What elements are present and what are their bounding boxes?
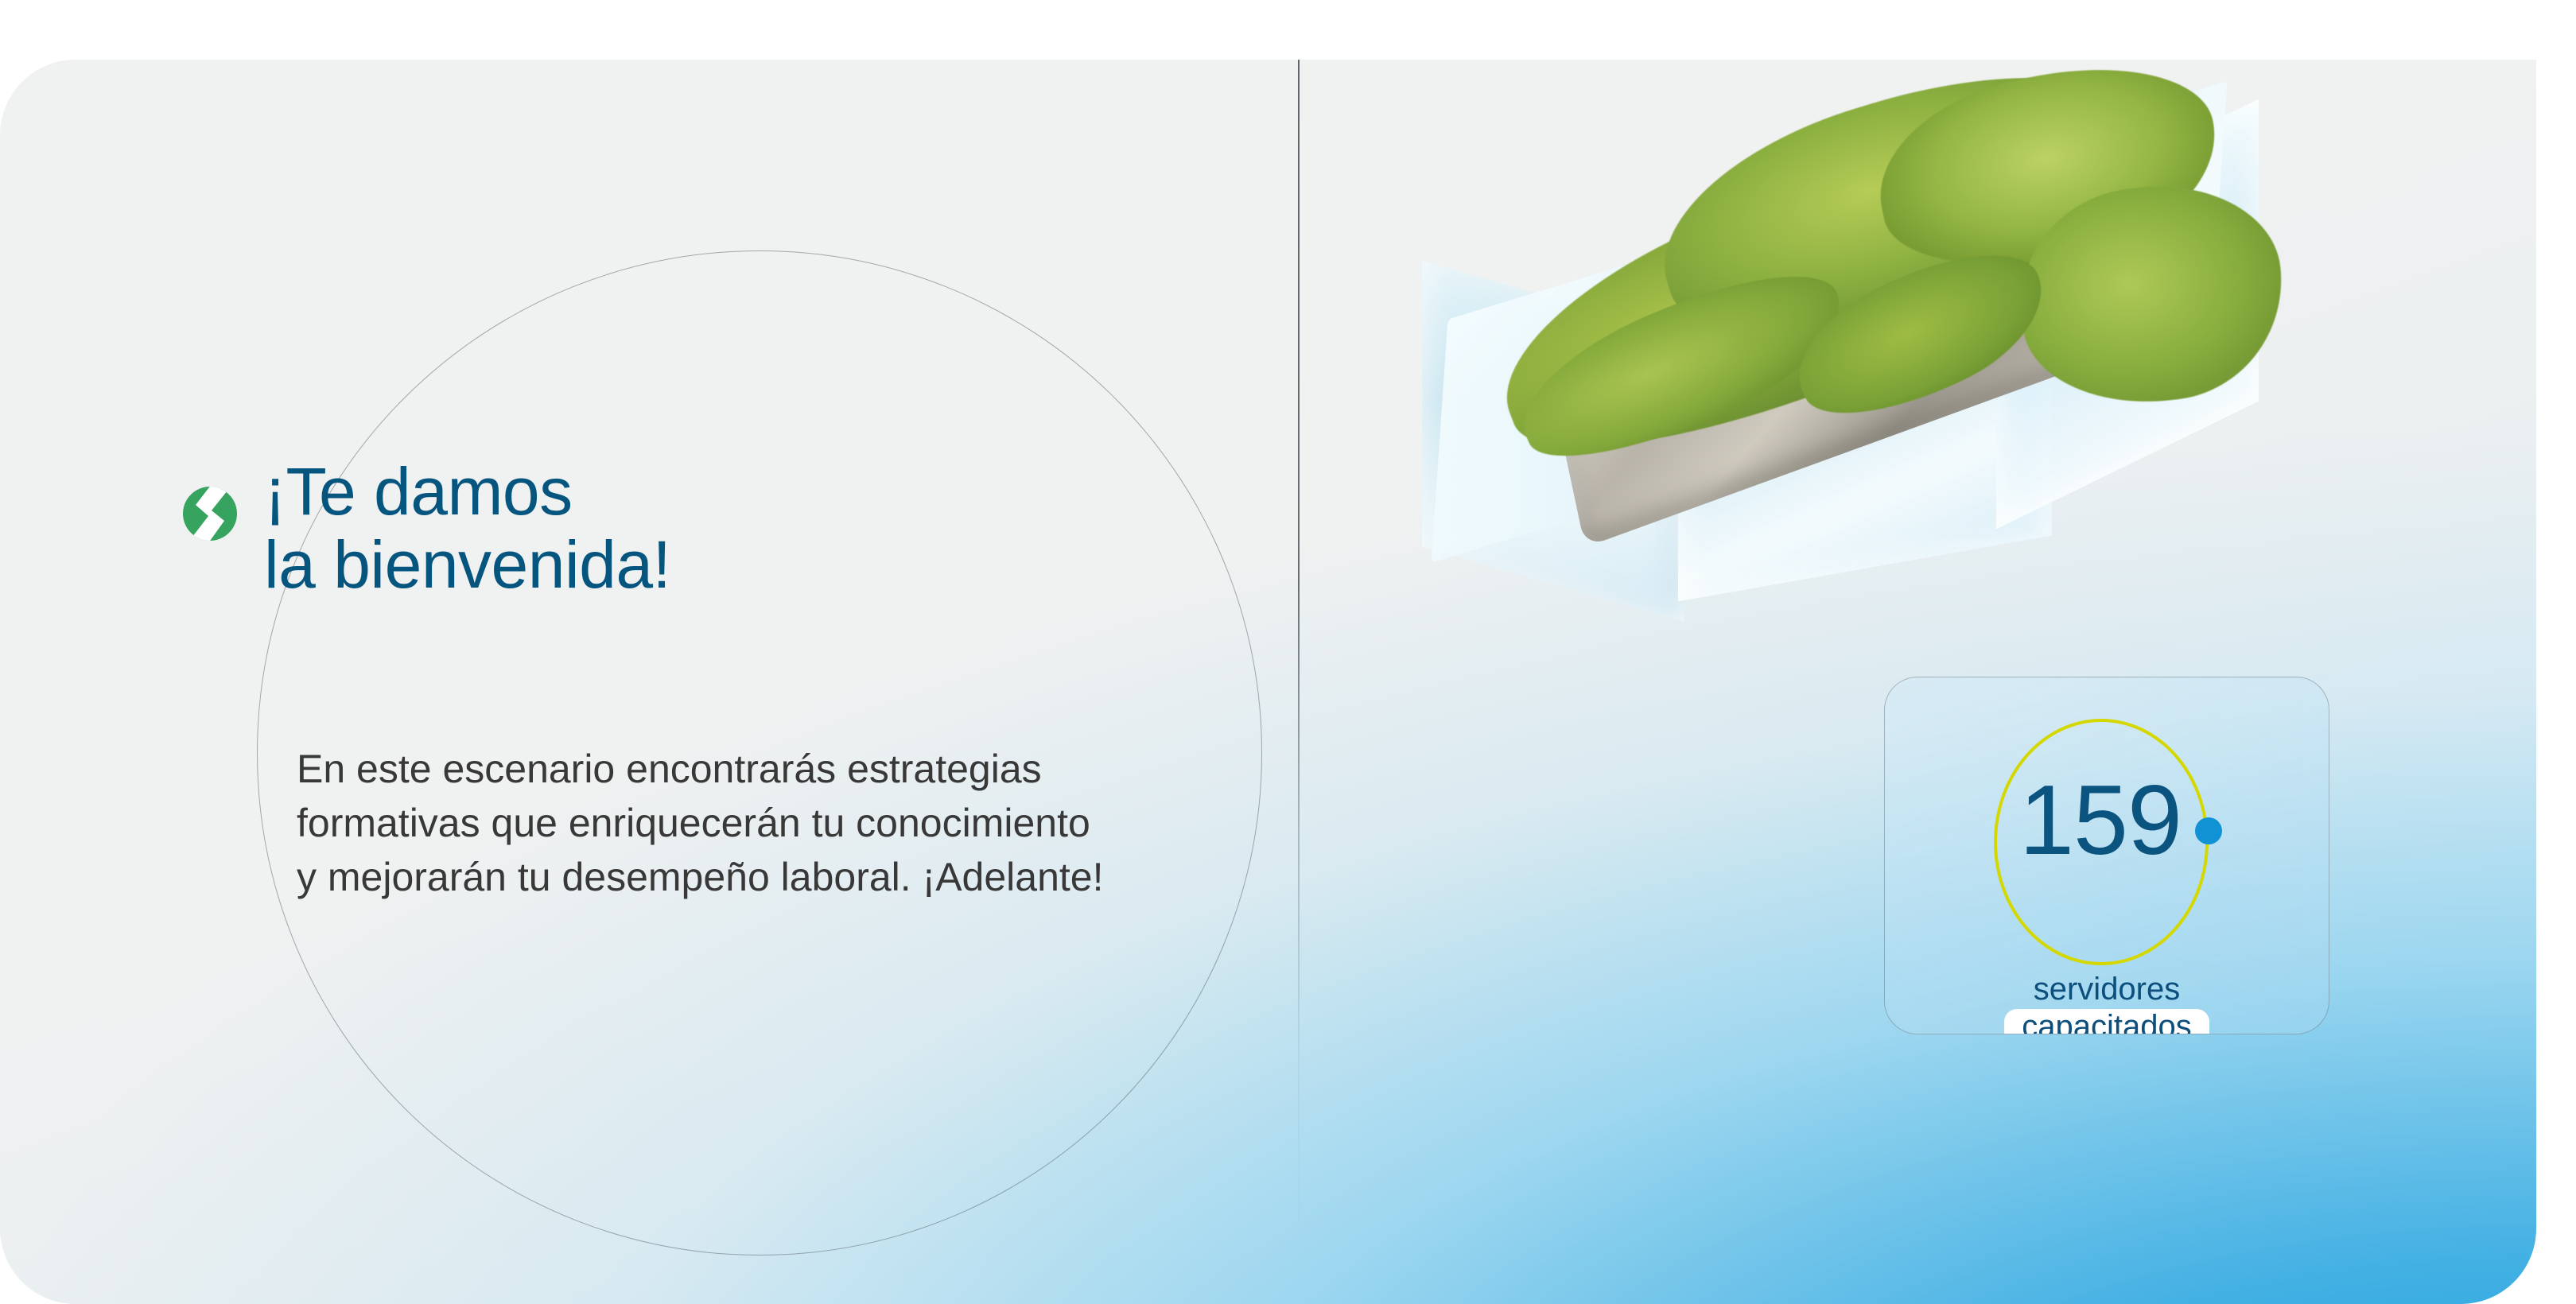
stat-label: servidores capacitados [1885, 973, 2329, 1034]
stat-label-line-2: capacitados [2004, 1009, 2209, 1034]
stat-value: 159 [1973, 771, 2228, 870]
left-content-pane: ¡Te damos la bienvenida! En este escenar… [0, 60, 1298, 1304]
stat-label-line-1: servidores [1885, 973, 2329, 1006]
welcome-banner-card: ¡Te damos la bienvenida! En este escenar… [0, 60, 2536, 1304]
diamond-leaf-logo-icon [183, 487, 237, 541]
page-title: ¡Te damos la bienvenida! [237, 455, 670, 602]
stat-card-servidores-capacitados: 159 servidores capacitados [1884, 677, 2329, 1034]
pane-divider [1298, 60, 1300, 1304]
stat-progress-dot-icon [2195, 817, 2222, 844]
stat-card-content: 159 servidores capacitados [1885, 677, 2329, 1034]
intro-paragraph: En este escenario encontrarás estrategia… [297, 742, 1243, 904]
headline-row: ¡Te damos la bienvenida! [183, 455, 670, 602]
